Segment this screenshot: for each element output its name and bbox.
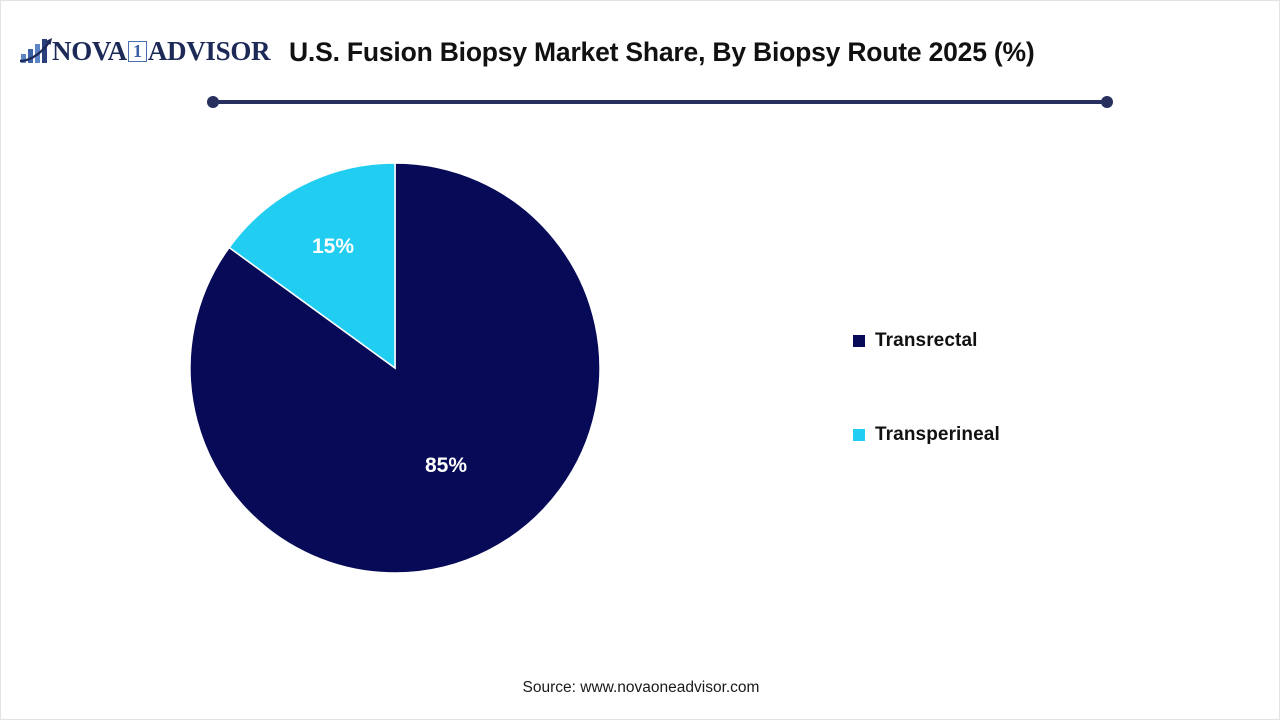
legend: Transrectal Transperineal [853, 326, 1153, 514]
divider-dot-right [1101, 96, 1113, 108]
legend-label-transperineal: Transperineal [875, 424, 1000, 446]
brand-badge-one: 1 [128, 41, 147, 62]
bar-chart-arrow-icon [19, 37, 55, 65]
legend-label-transrectal: Transrectal [875, 330, 978, 352]
legend-item-transrectal[interactable]: Transrectal [853, 326, 1153, 356]
source-caption: Source: www.novaoneadvisor.com [1, 679, 1280, 697]
legend-swatch-icon-transrectal [853, 335, 865, 347]
brand-name-left: NOVA [52, 38, 127, 65]
page-title: U.S. Fusion Biopsy Market Share, By Biop… [289, 37, 1229, 68]
pie-label-transrectal: 85% [425, 454, 467, 477]
header: NOVA 1 ADVISOR U.S. Fusion Biopsy Market… [1, 1, 1280, 93]
brand-logo: NOVA 1 ADVISOR [19, 34, 270, 68]
legend-item-transperineal[interactable]: Transperineal [853, 420, 1153, 450]
chart-canvas: NOVA 1 ADVISOR U.S. Fusion Biopsy Market… [0, 0, 1280, 720]
header-divider [207, 96, 1113, 108]
pie-chart: 85% 15% [190, 163, 600, 573]
brand-name-right: ADVISOR [148, 38, 270, 65]
divider-line [212, 100, 1108, 104]
legend-swatch-icon-transperineal [853, 429, 865, 441]
pie-label-transperineal: 15% [312, 235, 354, 258]
brand-wordmark: NOVA 1 ADVISOR [52, 38, 270, 65]
